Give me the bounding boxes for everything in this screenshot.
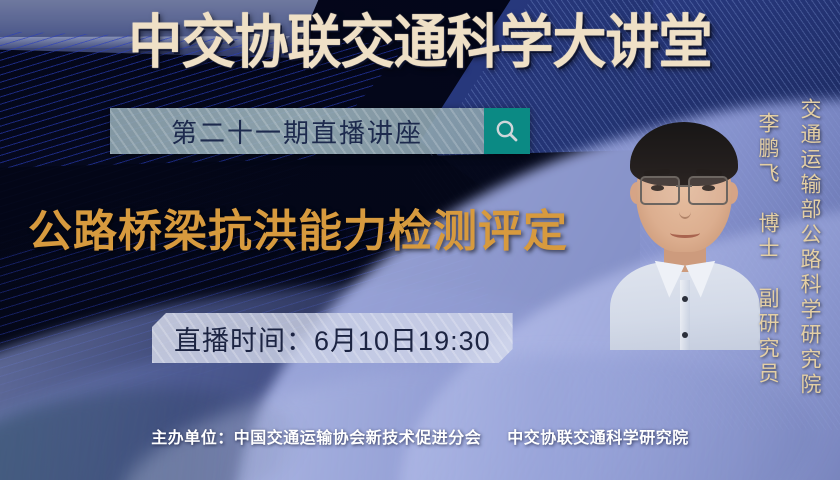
live-time-text: 直播时间：6月10日19:30 <box>174 319 491 358</box>
speaker-portrait <box>606 120 762 350</box>
page-title: 中交协联交通科学大讲堂 <box>29 8 810 78</box>
speaker-name-title: 李鹏飞 博士 副研究员 <box>752 112 782 387</box>
organizer-footer: 主办单位：中国交通运输协会新技术促进分会中交协联交通科学研究院 <box>0 424 840 448</box>
organizer-name-primary: 中国交通运输协会新技术促进分会 <box>234 430 482 447</box>
live-time-badge: 直播时间：6月10日19:30 <box>152 313 513 363</box>
episode-search-bar[interactable]: 第二十一期直播讲座 <box>110 108 530 154</box>
speaker-shirt-placket <box>680 280 690 350</box>
speaker-shirt-button-bottom <box>682 332 688 338</box>
organizer-name-secondary: 中交协联交通科学研究院 <box>507 430 689 447</box>
search-button[interactable] <box>484 108 530 154</box>
glasses-lens-right <box>688 176 728 205</box>
organizer-prefix: 主办单位： <box>151 430 234 447</box>
search-icon <box>494 118 520 144</box>
live-lecture-poster: 中交协联交通科学大讲堂 第二十一期直播讲座 公路桥梁抗洪能力检测评定 直播时间：… <box>0 0 840 480</box>
speaker-shirt-button-top <box>682 296 688 302</box>
glasses-icon <box>640 176 728 202</box>
episode-label-text: 第二十一期直播讲座 <box>171 113 423 150</box>
speaker-affiliation: 交通运输部公路科学研究院 <box>794 98 824 398</box>
glasses-bridge <box>676 185 692 187</box>
speaker-nose <box>679 204 691 219</box>
glasses-lens-left <box>640 176 680 205</box>
speaker-collar-right <box>686 261 721 299</box>
lecture-subject-title: 公路桥梁抗洪能力检测评定 <box>28 200 568 264</box>
speaker-mouth <box>670 228 700 238</box>
episode-label-field[interactable]: 第二十一期直播讲座 <box>110 108 484 154</box>
